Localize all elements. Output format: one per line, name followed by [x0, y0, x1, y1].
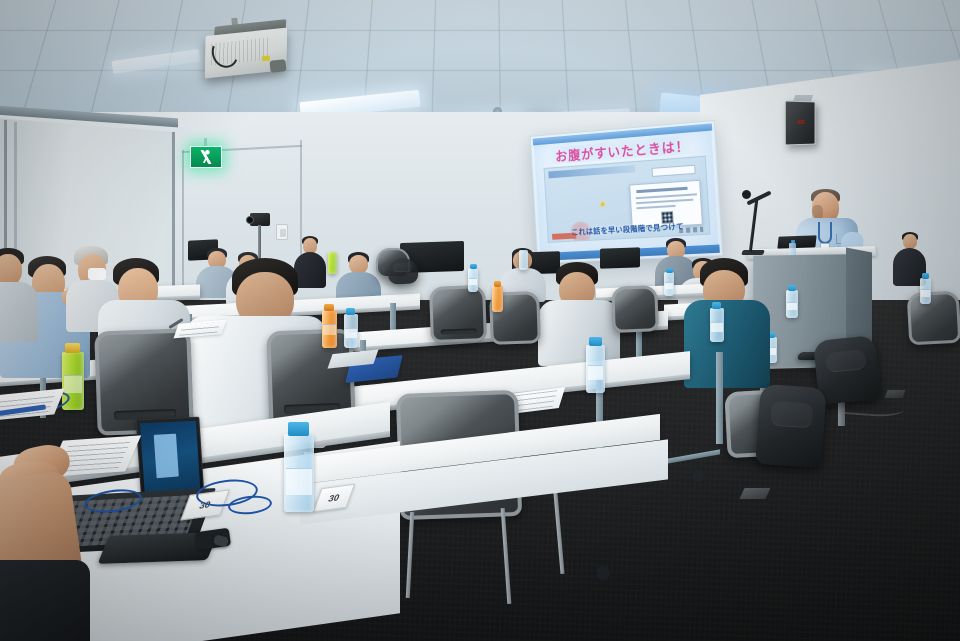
laptop-app-window — [153, 434, 178, 478]
chair-frame — [611, 285, 659, 333]
backpack — [755, 384, 826, 468]
card-heading — [636, 187, 687, 193]
water-bottle — [920, 278, 931, 304]
water-bottle — [284, 434, 314, 512]
bottle-cap — [346, 308, 355, 315]
projector-lens-icon — [269, 59, 286, 73]
floor-outlet-plate — [885, 390, 906, 398]
water-bottle — [586, 345, 605, 393]
bottle-cap — [712, 302, 721, 309]
face-mask — [88, 268, 106, 280]
chair — [611, 285, 659, 333]
torso — [0, 282, 38, 342]
water-bottle — [468, 268, 478, 292]
bottle-cap — [288, 422, 309, 436]
map-search-box — [652, 165, 696, 177]
wall-outlet — [276, 224, 288, 240]
map-pin-icon — [601, 202, 605, 206]
paper-text-lines — [179, 322, 221, 336]
bottle-cap — [666, 268, 673, 273]
bottle-label — [469, 278, 477, 285]
water-bottle — [786, 290, 798, 318]
water-bottle — [519, 250, 528, 270]
card-text-line — [636, 199, 693, 205]
bottle-cap — [324, 304, 334, 311]
torso — [538, 300, 620, 366]
card-text-line — [636, 205, 675, 209]
projection-screen: お腹がすいたときは！ これは話を早い段階階で見つけて — [530, 120, 723, 264]
chair-caster — [596, 566, 610, 580]
green-tea-bottle — [328, 252, 337, 274]
bottle-cap — [788, 285, 796, 291]
table-leg — [716, 352, 723, 444]
seminar-room-photo: お腹がすいたときは！ これは話を早い段階階で見つけて — [0, 0, 960, 641]
back-monitor — [600, 247, 640, 268]
camera-lens-icon — [246, 216, 254, 224]
presenter-lanyard — [818, 222, 832, 244]
microphone-icon — [742, 190, 751, 199]
bottle-cap — [922, 273, 929, 279]
bottle-label — [64, 375, 82, 392]
bottle-label — [345, 328, 357, 338]
bottle-label — [286, 468, 311, 495]
torso — [294, 252, 326, 288]
running-person-icon — [200, 150, 212, 164]
torso — [684, 300, 770, 388]
water-bottle — [344, 314, 358, 348]
chair-frame — [429, 285, 487, 343]
chair — [429, 285, 487, 343]
podium-laptop — [777, 235, 816, 248]
chair-frame — [907, 291, 960, 346]
table-caster — [692, 470, 704, 482]
slide-content-area: これは話を早い段階階で見つけて — [544, 156, 711, 243]
emergency-exit-sign — [190, 146, 222, 168]
bottle-cap — [589, 337, 602, 346]
projector-label — [262, 56, 270, 62]
bottle-cap — [470, 264, 477, 269]
bottle-cap — [494, 281, 501, 287]
bottle-label — [921, 289, 930, 297]
floor-outlet-plate — [740, 488, 771, 499]
head — [903, 234, 917, 249]
wall-speaker-icon — [785, 101, 816, 146]
torso — [0, 560, 90, 641]
water-bottle — [710, 308, 724, 342]
orange-drink-bottle — [322, 310, 337, 348]
chair — [907, 291, 960, 346]
bottle-label — [665, 282, 673, 289]
orange-drink-bottle — [492, 286, 503, 312]
water-bottle — [664, 272, 674, 296]
bottle-cap — [65, 343, 80, 353]
bottle-label — [711, 322, 723, 332]
bottle-label — [588, 365, 604, 379]
bottle-label — [787, 302, 797, 310]
map-toolbar — [548, 165, 635, 178]
microphone-base — [741, 250, 765, 255]
bottle-label — [323, 324, 336, 335]
